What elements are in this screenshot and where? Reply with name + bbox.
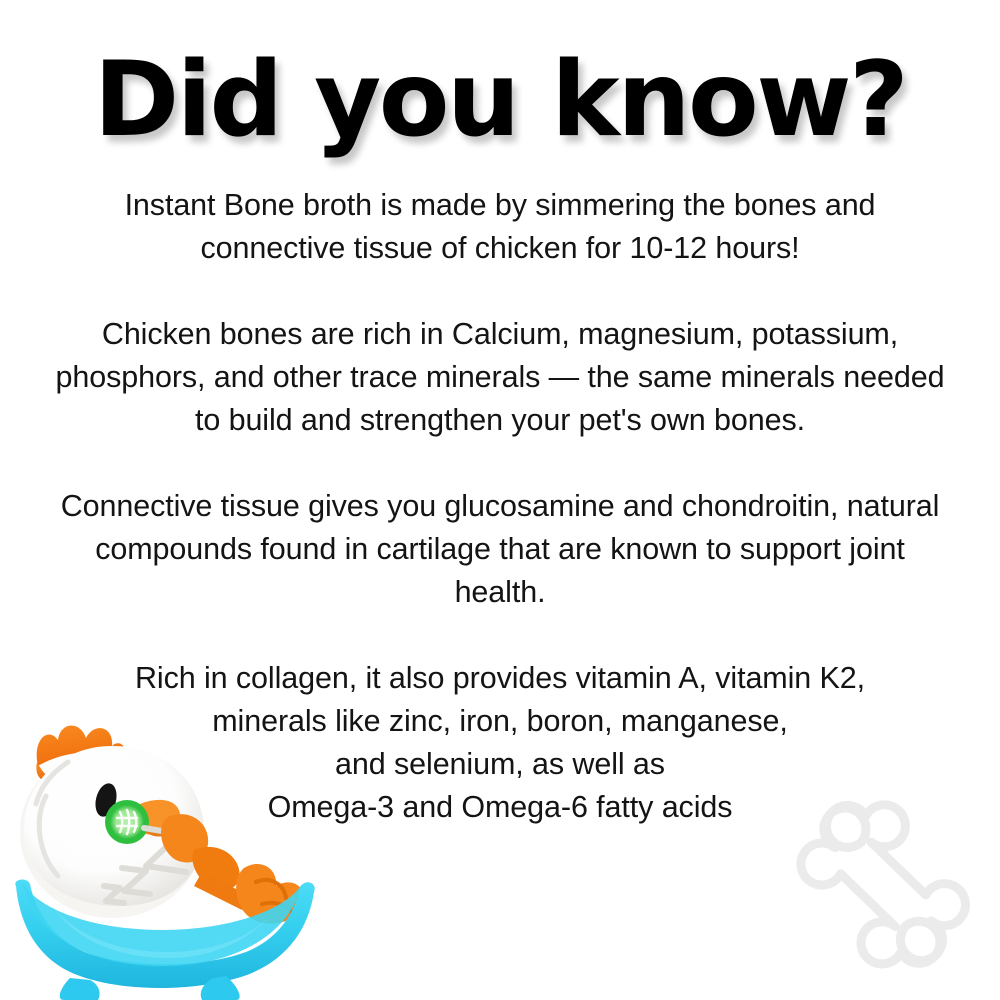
copy-line: phosphors, and other trace minerals — th…: [48, 356, 952, 399]
paragraph-minerals: Chicken bones are rich in Calcium, magne…: [48, 313, 952, 442]
copy-line: health.: [48, 571, 952, 614]
copy-line: Connective tissue gives you glucosamine …: [48, 485, 952, 528]
page-title: Did you know?: [0, 44, 1000, 156]
paragraph-bone-broth-simmering: Instant Bone broth is made by simmering …: [48, 184, 952, 270]
bone-watermark-icon: [770, 798, 970, 998]
bathtub-leg-left: [60, 978, 100, 1000]
paragraph-connective-tissue: Connective tissue gives you glucosamine …: [48, 485, 952, 614]
copy-line: compounds found in cartilage that are kn…: [48, 528, 952, 571]
cucumber-slice-icon: [105, 800, 149, 844]
copy-line: Rich in collagen, it also provides vitam…: [48, 657, 952, 700]
copy-line: to build and strengthen your pet's own b…: [48, 399, 952, 442]
poster-canvas: Did you know? Instant Bone broth is made…: [0, 0, 1000, 1000]
copy-line: Chicken bones are rich in Calcium, magne…: [48, 313, 952, 356]
copy-line: Instant Bone broth is made by simmering …: [48, 184, 952, 227]
copy-line: connective tissue of chicken for 10-12 h…: [48, 227, 952, 270]
chicken-in-bathtub-illustration: [0, 700, 324, 1000]
